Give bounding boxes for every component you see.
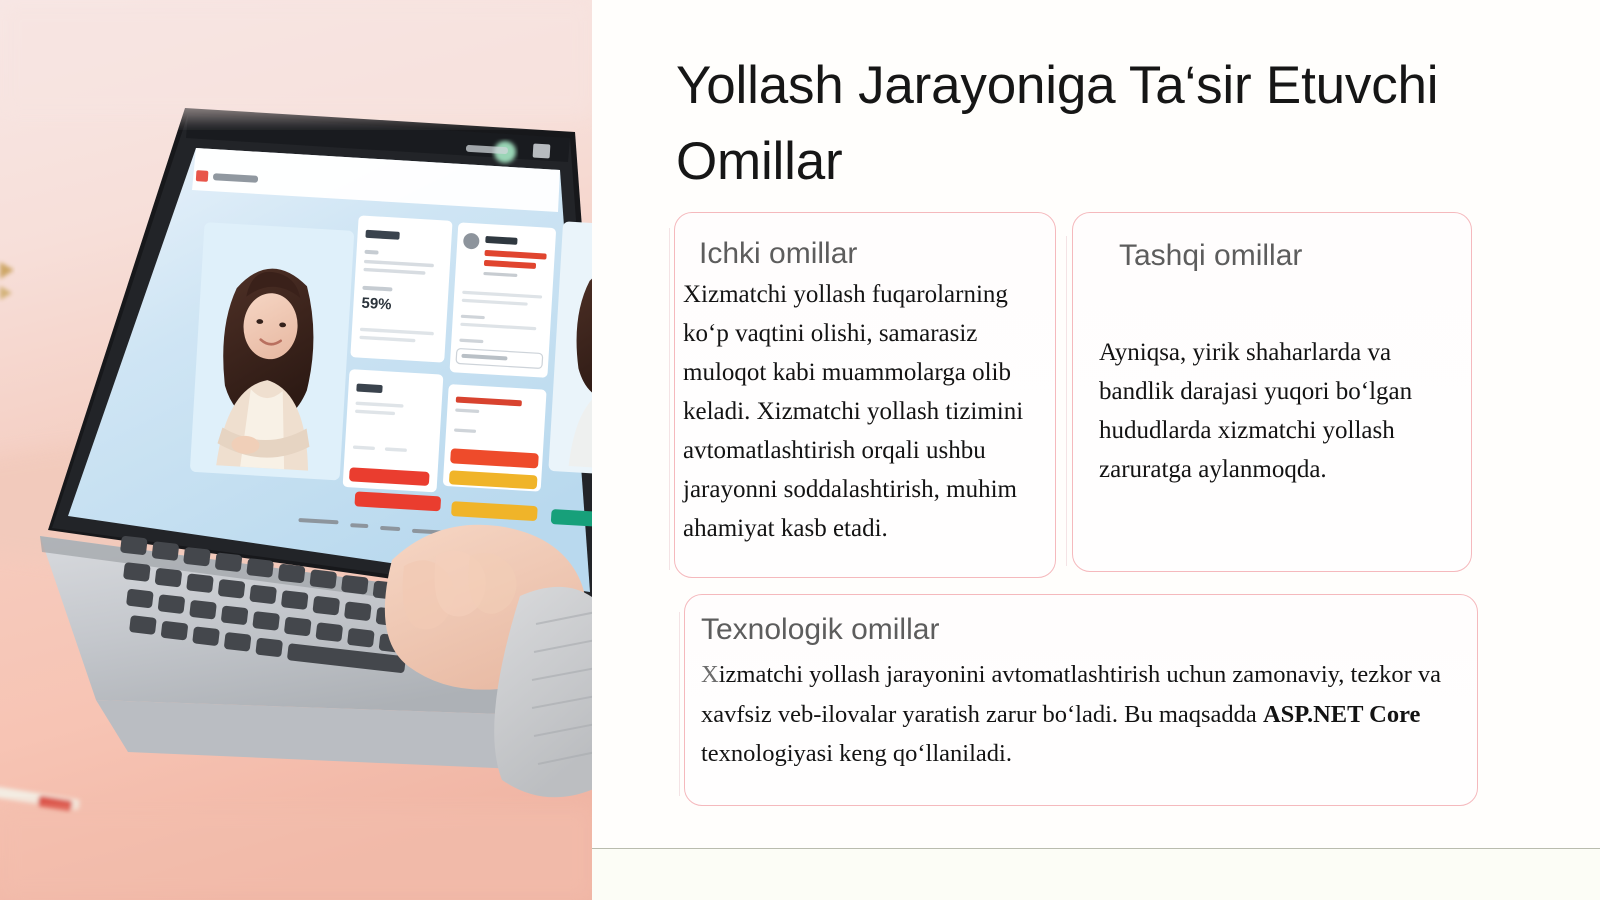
card-technological-factors-body: Xizmatchi yollash jarayonini avtomatlash… <box>701 655 1459 774</box>
card-internal-factors-body: Xizmatchi yollash fuqarolarning ko‘p vaq… <box>683 275 1031 548</box>
body-text-part-2: texnologiyasi keng qo‘llaniladi. <box>701 740 1012 767</box>
panel-footer <box>592 849 1600 900</box>
card-external-factors: Tashqi omillar Ayniqsa, yirik shaharlard… <box>1072 212 1472 572</box>
decorative-hairline <box>1066 236 1067 566</box>
svg-text:59%: 59% <box>361 295 392 314</box>
body-emphasis-aspnet-core: ASP.NET Core <box>1263 701 1420 728</box>
card-technological-factors: Texnologik omillar Xizmatchi yollash jar… <box>684 594 1478 806</box>
page-title: Yollash Jarayoniga Ta‘sir Etuvchi Omilla… <box>676 48 1476 201</box>
footer-divider <box>592 848 1600 849</box>
person-typing-on-laptop-photo: 59% <box>0 0 592 900</box>
card-internal-factors-heading: Ichki omillar <box>699 239 857 269</box>
decorative-hairline <box>669 228 670 570</box>
laptop-photo-illustration: 59% <box>0 0 592 900</box>
decorative-hairline <box>679 612 680 796</box>
card-external-factors-body: Ayniqsa, yirik shaharlarda va bandlik da… <box>1099 333 1429 489</box>
card-technological-factors-heading: Texnologik omillar <box>701 615 939 645</box>
card-internal-factors: Ichki omillar Xizmatchi yollash fuqarola… <box>674 212 1056 578</box>
body-lead-capital: X <box>701 661 719 688</box>
card-external-factors-heading: Tashqi omillar <box>1119 241 1302 271</box>
slide-root: 59% <box>0 0 1600 900</box>
